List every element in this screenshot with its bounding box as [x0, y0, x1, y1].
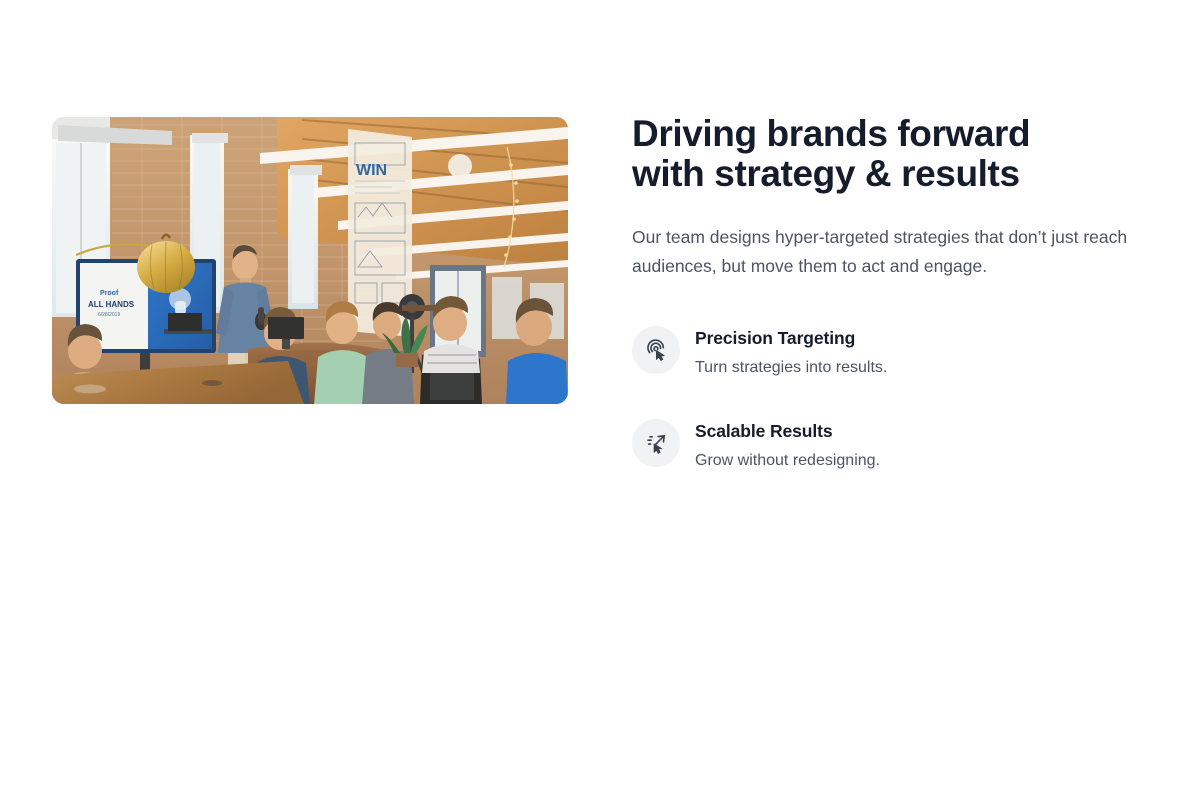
feature-title: Scalable Results [695, 420, 880, 442]
feature-text-block: Precision Targeting Turn strategies into… [695, 325, 887, 378]
feature-list: Precision Targeting Turn strategies into… [632, 325, 1152, 471]
hero-media-column: WIN [52, 117, 568, 404]
hero-subcopy: Our team designs hyper-targeted strategi… [632, 223, 1148, 281]
office-meeting-photo: WIN [52, 117, 568, 404]
feature-description: Turn strategies into results. [695, 357, 887, 378]
page-title: Driving brands forwardwith strategy & re… [632, 114, 1112, 194]
cursor-target-icon [632, 326, 680, 374]
feature-title: Precision Targeting [695, 327, 887, 349]
headline-line-1: Driving brands forward [632, 113, 1030, 154]
hero-copy-column: Driving brands forwardwith strategy & re… [632, 114, 1152, 471]
marketing-hero-section: WIN [0, 0, 1200, 800]
list-item: Precision Targeting Turn strategies into… [632, 325, 1152, 378]
headline-line-2: with strategy & results [632, 153, 1020, 194]
list-item: Scalable Results Grow without redesignin… [632, 418, 1152, 471]
feature-description: Grow without redesigning. [695, 450, 880, 471]
growth-arrow-icon [632, 419, 680, 467]
hero-photo: WIN [52, 117, 568, 404]
feature-text-block: Scalable Results Grow without redesignin… [695, 418, 880, 471]
